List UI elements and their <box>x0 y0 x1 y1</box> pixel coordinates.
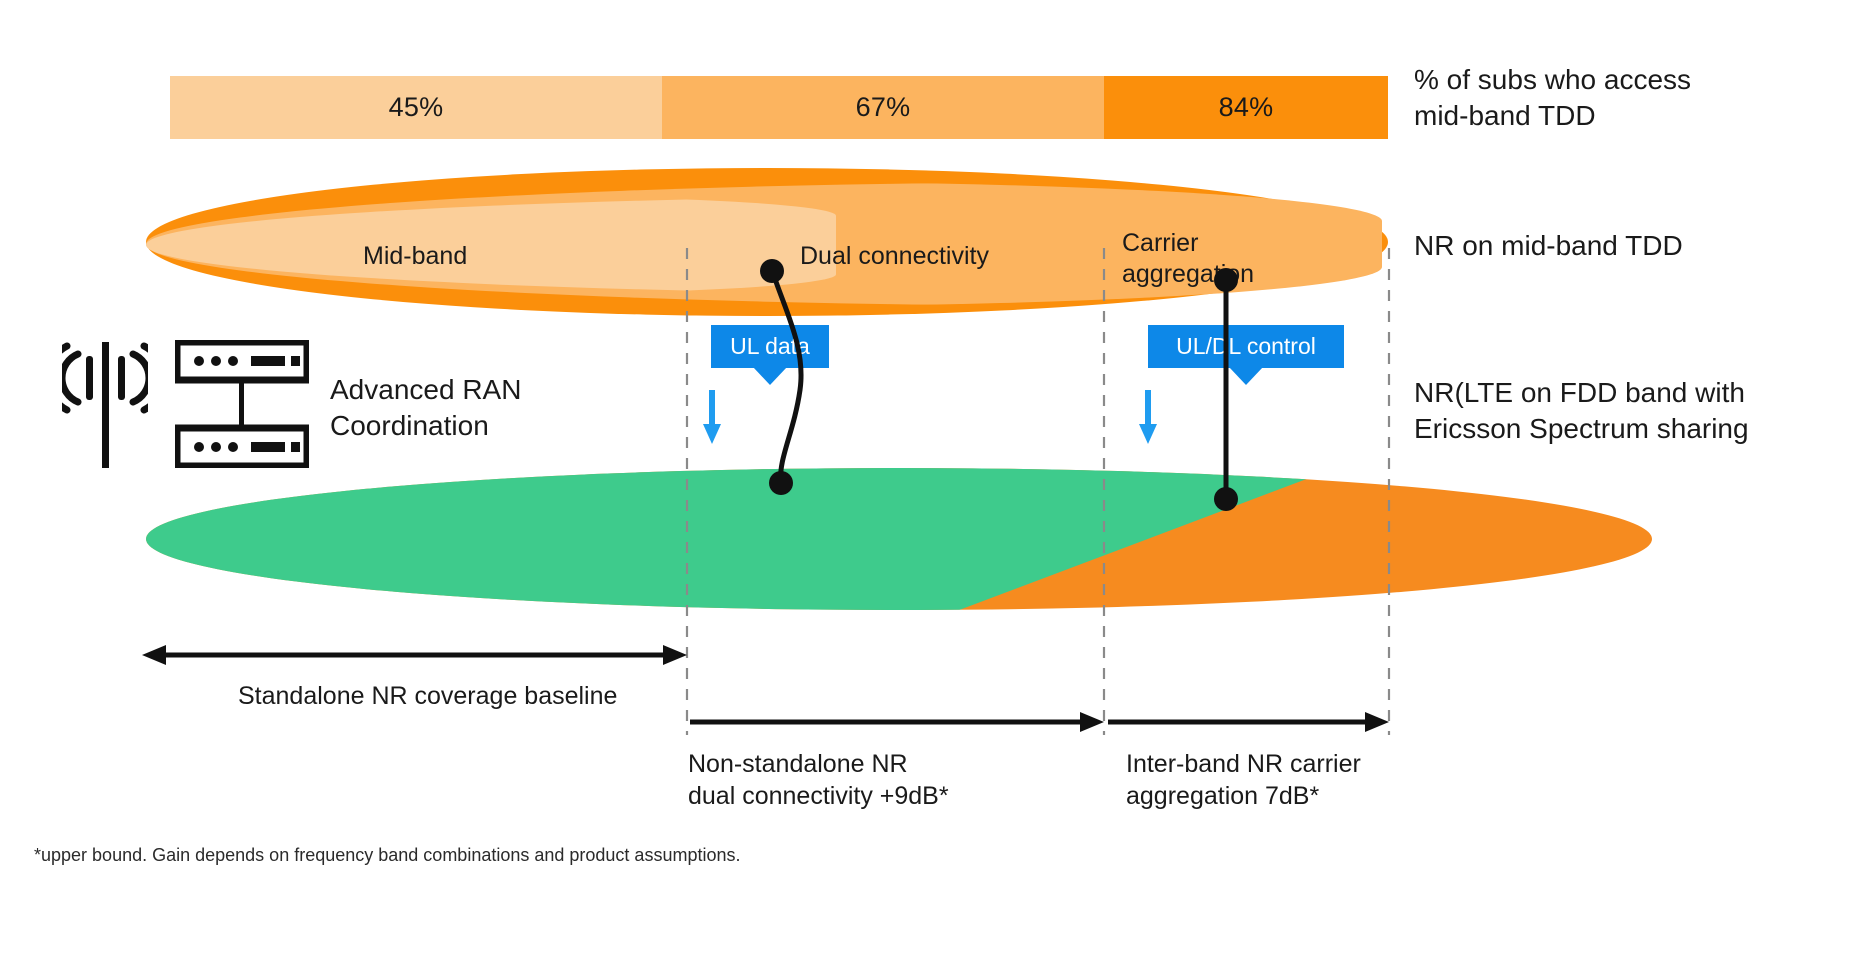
percent-segment-45: 45% <box>170 76 662 139</box>
inter-band-measure-arrow <box>1108 712 1389 732</box>
callout-ul-data-label: UL data <box>730 333 810 360</box>
legend-subs-access-label: % of subs who access mid-band TDD <box>1414 62 1691 135</box>
percent-segment-label: 45% <box>389 92 444 123</box>
server-rack-icon <box>175 340 309 473</box>
ellipse-label-carrier-aggregation: Carrier aggregation <box>1122 228 1254 289</box>
advanced-ran-coordination-label: Advanced RAN Coordination <box>330 372 521 445</box>
non-standalone-measure-arrow <box>690 712 1104 732</box>
percent-segment-84: 84% <box>1104 76 1388 139</box>
ellipse-label-mid-band: Mid-band <box>363 241 467 272</box>
ellipse-coverage-fdd <box>146 468 1652 610</box>
diagram-canvas: 45% 67% 84% % of subs who access mid-ban… <box>0 0 1863 960</box>
ellipse-coverage-green-region <box>146 468 1652 610</box>
blue-down-arrow-right <box>1139 390 1157 444</box>
callout-ul-dl-control: UL/DL control <box>1148 325 1344 368</box>
measure-label-inter-band: Inter-band NR carrier aggregation 7dB* <box>1126 748 1361 812</box>
percent-segment-label: 67% <box>856 92 911 123</box>
footnote-text: *upper bound. Gain depends on frequency … <box>34 845 740 866</box>
percent-segment-67: 67% <box>662 76 1104 139</box>
ellipse-label-dual-connectivity: Dual connectivity <box>800 241 989 272</box>
callout-ul-dl-control-label: UL/DL control <box>1176 333 1316 360</box>
percent-bar: 45% 67% 84% <box>170 76 1388 139</box>
antenna-icon <box>62 338 148 473</box>
legend-nr-mid-band-tdd-label: NR on mid-band TDD <box>1414 228 1683 264</box>
legend-nr-lte-fdd-label: NR(LTE on FDD band with Ericsson Spectru… <box>1414 375 1749 448</box>
measure-label-non-standalone: Non-standalone NR dual connectivity +9dB… <box>688 748 949 812</box>
callout-ul-data: UL data <box>711 325 829 368</box>
baseline-measure-arrow <box>142 645 687 665</box>
measure-label-baseline: Standalone NR coverage baseline <box>238 680 617 712</box>
blue-down-arrow-left <box>703 390 721 444</box>
percent-segment-label: 84% <box>1219 92 1274 123</box>
